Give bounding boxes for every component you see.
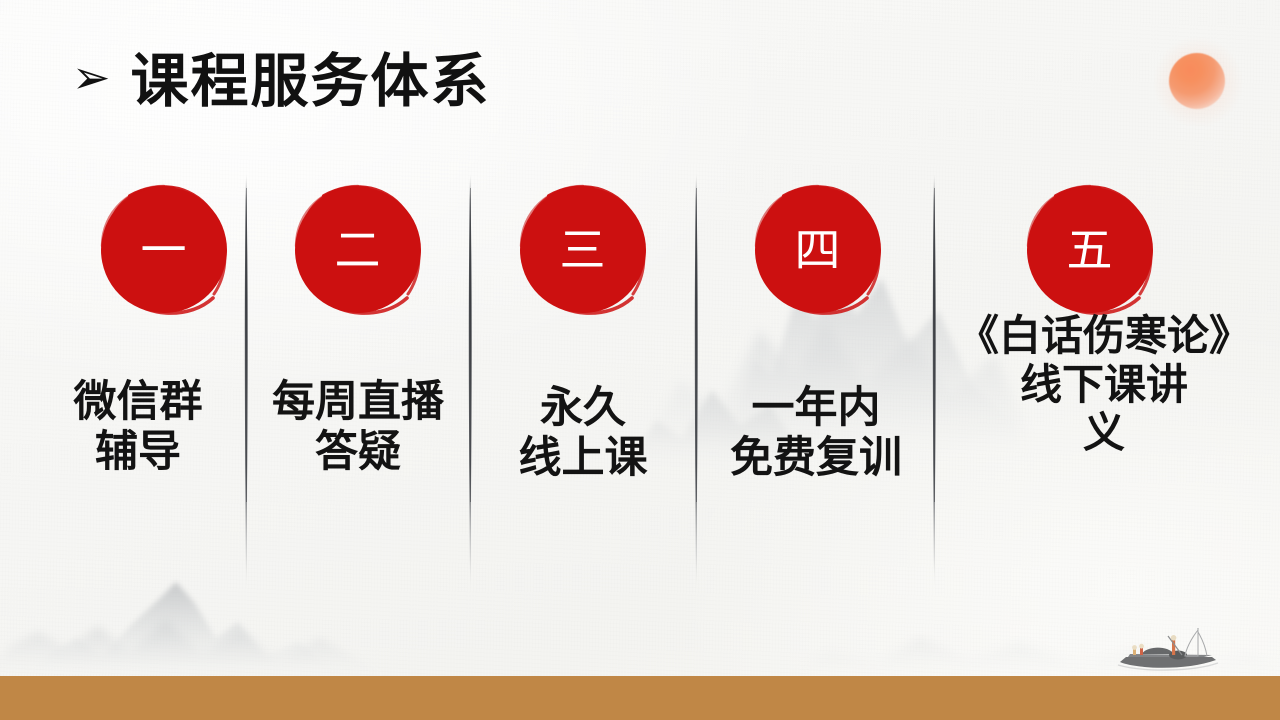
circle-number-text: 五 [1026, 186, 1154, 314]
slide-canvas: ➢ 课程服务体系 一微信群 辅导二每周直播 答疑三永久 线上课四一年内 免费复训… [0, 0, 1280, 720]
number-circle-one: 一 [100, 186, 228, 314]
circle-number-text: 二 [294, 186, 422, 314]
number-circle-two: 二 [294, 186, 422, 314]
bottom-band [0, 676, 1280, 720]
service-label-2: 每周直播 答疑 [252, 378, 464, 478]
service-column-3: 三永久 线上课 [519, 186, 647, 314]
number-circle-five: 五 [1026, 186, 1154, 314]
service-column-2: 二每周直播 答疑 [294, 186, 422, 314]
service-label-3: 永久 线上课 [480, 384, 686, 484]
service-label-1: 微信群 辅导 [58, 378, 218, 478]
number-circle-three: 三 [519, 186, 647, 314]
service-column-5: 五《白话伤寒论》 线下课讲 义 [1026, 186, 1154, 314]
ink-boat-icon [1112, 622, 1228, 678]
number-circle-four: 四 [754, 186, 882, 314]
circle-number-text: 三 [519, 186, 647, 314]
circle-number-text: 一 [100, 186, 228, 314]
service-column-1: 一微信群 辅导 [100, 186, 228, 314]
service-column-4: 四一年内 免费复训 [754, 186, 882, 314]
circle-number-text: 四 [754, 186, 882, 314]
service-label-4: 一年内 免费复训 [706, 384, 926, 484]
service-label-5: 《白话伤寒论》 线下课讲 义 [930, 312, 1278, 458]
service-columns: 一微信群 辅导二每周直播 答疑三永久 线上课四一年内 免费复训五《白话伤寒论》 … [0, 0, 1280, 720]
